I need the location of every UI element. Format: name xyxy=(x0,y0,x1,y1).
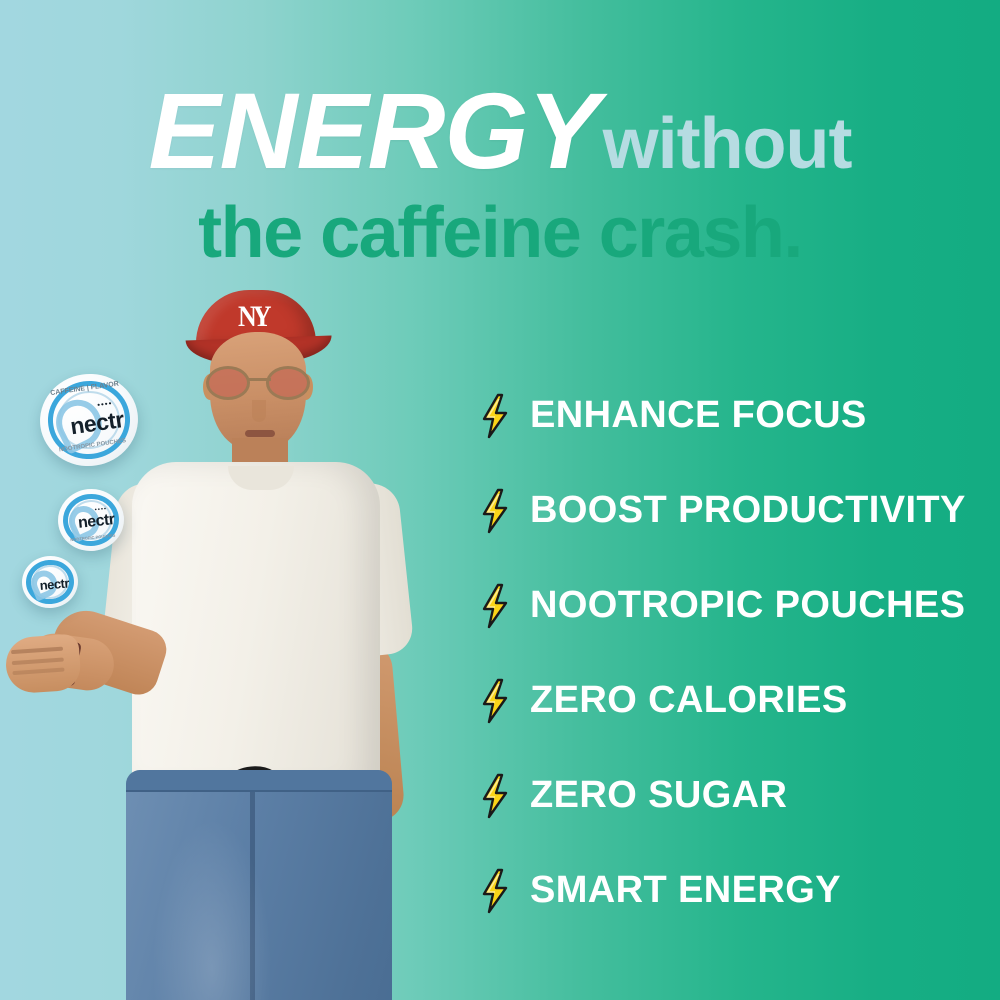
headline-line-1: ENERGYwithout xyxy=(0,78,1000,184)
benefits-list: ENHANCE FOCUS BOOST PRODUCTIVITY NOOTROP… xyxy=(478,368,998,938)
lightning-bolt-icon xyxy=(478,393,512,439)
benefit-label: ENHANCE FOCUS xyxy=(530,394,867,437)
lightning-bolt-icon xyxy=(478,488,512,534)
sunglasses-icon xyxy=(204,366,314,400)
ad-creative: ENERGYwithout the caffeine crash. NY xyxy=(0,0,1000,1000)
headline-word-without: without xyxy=(603,104,852,184)
model-mouth xyxy=(245,430,275,437)
headline-word-energy: ENERGY xyxy=(148,70,598,191)
cap-logo-ny: NY xyxy=(238,300,268,335)
benefit-item: SMART ENERGY xyxy=(478,843,998,938)
benefit-label: ZERO CALORIES xyxy=(530,679,848,722)
lightning-bolt-icon xyxy=(478,583,512,629)
benefit-label: BOOST PRODUCTIVITY xyxy=(530,489,966,532)
model-jeans xyxy=(126,770,392,1000)
sunglass-bridge xyxy=(249,378,271,381)
tin-brand-wordmark: nectr xyxy=(77,511,115,533)
benefit-label: ZERO SUGAR xyxy=(530,774,787,817)
sunglass-lens-left xyxy=(206,366,250,400)
sunglass-lens-right xyxy=(266,366,310,400)
benefit-item: NOOTROPIC POUCHES xyxy=(478,558,998,653)
headline: ENERGYwithout the caffeine crash. xyxy=(0,78,1000,268)
benefit-item: ENHANCE FOCUS xyxy=(478,368,998,463)
benefit-label: NOOTROPIC POUCHES xyxy=(530,584,965,627)
tin-brand-wordmark: nectr xyxy=(39,575,69,592)
headline-line-2: the caffeine crash. xyxy=(0,198,1000,269)
model-open-hand xyxy=(4,633,82,694)
benefit-item: ZERO CALORIES xyxy=(478,653,998,748)
benefit-label: SMART ENERGY xyxy=(530,869,841,912)
model-nose xyxy=(252,400,266,422)
model-tshirt xyxy=(132,462,380,792)
benefit-item: ZERO SUGAR xyxy=(478,748,998,843)
lightning-bolt-icon xyxy=(478,868,512,914)
lightning-bolt-icon xyxy=(478,678,512,724)
lightning-bolt-icon xyxy=(478,773,512,819)
jeans-waistband xyxy=(126,770,392,792)
benefit-item: BOOST PRODUCTIVITY xyxy=(478,463,998,558)
